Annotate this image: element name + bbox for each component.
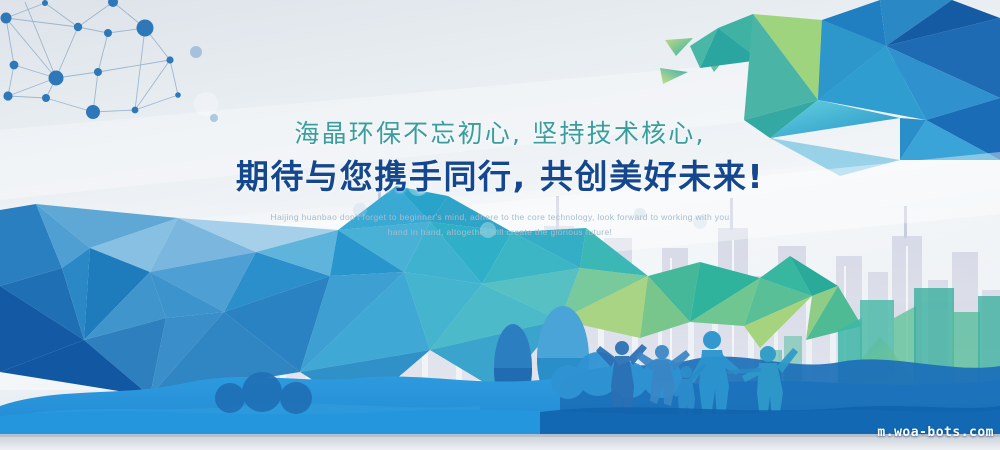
banner-root: 海晶环保不忘初心, 坚持技术核心, 期待与您携手同行, 共创美好未来! Haij… [0,0,1000,450]
banner-artwork [0,0,1000,450]
site-watermark: m.woa-bots.com [877,425,994,440]
